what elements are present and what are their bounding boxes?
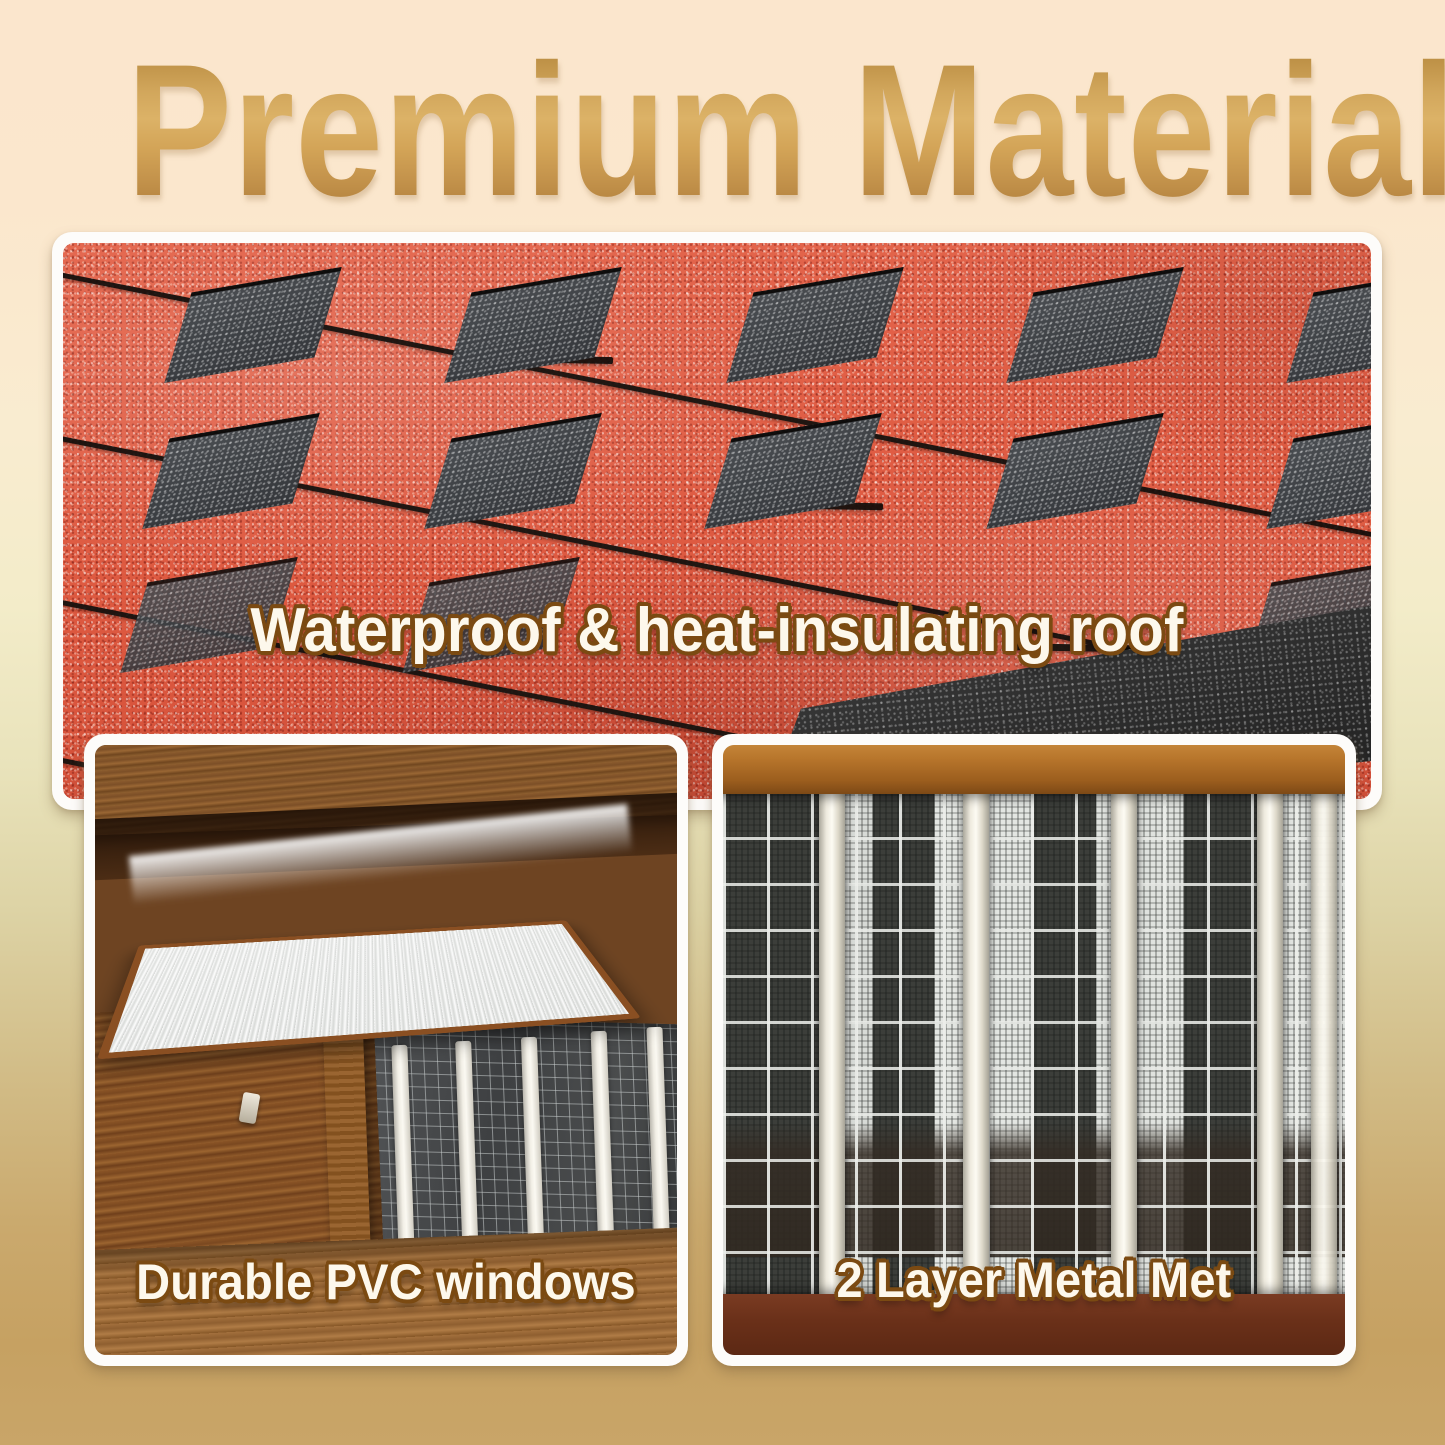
product-feature-poster: Premium Material bbox=[0, 0, 1445, 1445]
caption-metal-mesh: 2 Layer Metal Met bbox=[742, 1251, 1327, 1309]
feature-card-metal-mesh-image: 2 Layer Metal Met bbox=[723, 745, 1345, 1355]
mesh-vertical-bar bbox=[1257, 788, 1283, 1300]
feature-card-roof-image: Waterproof & heat-insulating roof bbox=[63, 243, 1371, 799]
mesh-top-wood-trim bbox=[723, 745, 1345, 794]
mesh-vertical-bar bbox=[819, 788, 845, 1300]
caption-roof: Waterproof & heat-insulating roof bbox=[102, 595, 1332, 666]
mesh-outer-wire-grid-layer bbox=[723, 788, 1345, 1300]
feature-card-roof[interactable]: Waterproof & heat-insulating roof bbox=[52, 232, 1382, 810]
mesh-vertical-bar bbox=[1311, 788, 1337, 1300]
caption-pvc-windows: Durable PVC windows bbox=[112, 1253, 659, 1311]
feature-card-pvc-windows[interactable]: Durable PVC windows bbox=[84, 734, 688, 1366]
poster-title-container: Premium Material bbox=[0, 36, 1445, 224]
feature-card-pvc-windows-image: Durable PVC windows bbox=[95, 745, 677, 1355]
page-title: Premium Material bbox=[127, 36, 1445, 224]
feature-card-metal-mesh[interactable]: 2 Layer Metal Met bbox=[712, 734, 1356, 1366]
mesh-vertical-bar bbox=[963, 788, 989, 1300]
mesh-vertical-bar bbox=[1111, 788, 1137, 1300]
